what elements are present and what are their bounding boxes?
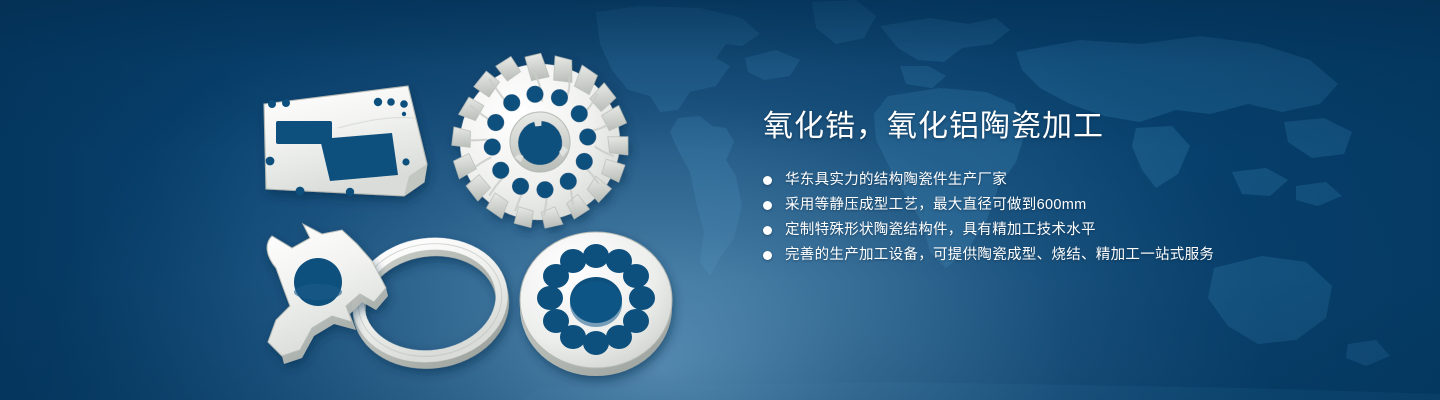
feature-text: 定制特殊形状陶瓷结构件，具有精加工技术水平 [785, 218, 1096, 243]
ceramic-machined-plate [264, 86, 427, 196]
bullet-dot-icon [763, 201, 772, 210]
feature-list: 华东具实力的结构陶瓷件生产厂家 采用等静压成型工艺，最大直径可做到600mm 定… [763, 168, 1383, 268]
hero-banner: 氧化锆，氧化铝陶瓷加工 华东具实力的结构陶瓷件生产厂家 采用等静压成型工艺，最大… [0, 0, 1440, 400]
list-item: 完善的生产加工设备，可提供陶瓷成型、烧结、精加工一站式服务 [763, 243, 1383, 268]
ceramic-perforated-disc [520, 232, 672, 376]
feature-text: 完善的生产加工设备，可提供陶瓷成型、烧结、精加工一站式服务 [785, 243, 1214, 268]
ceramic-impeller [443, 45, 636, 236]
list-item: 华东具实力的结构陶瓷件生产厂家 [763, 168, 1383, 193]
bullet-dot-icon [763, 226, 772, 235]
banner-copy: 氧化锆，氧化铝陶瓷加工 华东具实力的结构陶瓷件生产厂家 采用等静压成型工艺，最大… [763, 108, 1383, 268]
feature-text: 华东具实力的结构陶瓷件生产厂家 [785, 168, 1007, 193]
bullet-dot-icon [763, 176, 772, 185]
page-title: 氧化锆，氧化铝陶瓷加工 [763, 108, 1383, 146]
list-item: 定制特殊形状陶瓷结构件，具有精加工技术水平 [763, 218, 1383, 243]
list-item: 采用等静压成型工艺，最大直径可做到600mm [763, 193, 1383, 218]
feature-text: 采用等静压成型工艺，最大直径可做到600mm [785, 193, 1086, 218]
ceramic-products-image [0, 0, 720, 400]
bullet-dot-icon [763, 251, 772, 260]
